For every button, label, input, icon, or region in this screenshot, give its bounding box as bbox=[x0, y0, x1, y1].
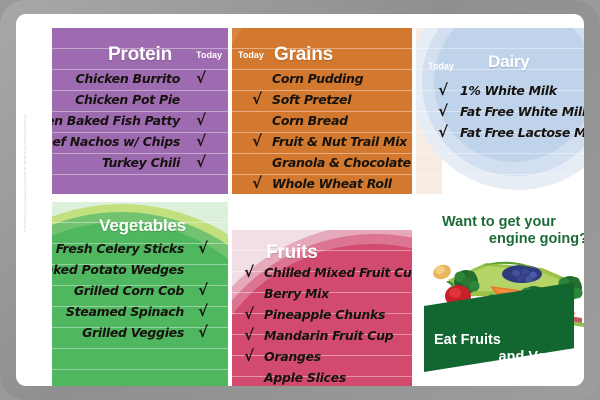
panel-vegetables: Vegetables Fresh Celery Sticks√Baked Pot… bbox=[52, 202, 228, 386]
menu-item-name: Grilled Corn Cob bbox=[74, 280, 184, 301]
menu-row[interactable]: Steamed Spinach√ bbox=[52, 301, 228, 322]
promo-banner-line-1: Eat Fruits bbox=[434, 332, 584, 349]
today-header-protein: Today bbox=[196, 50, 222, 60]
menu-item-name: Steamed Spinach bbox=[66, 301, 184, 322]
today-check-icon: √ bbox=[198, 280, 208, 301]
menu-item-name: Pineapple Chunks bbox=[264, 304, 385, 325]
menu-row[interactable]: Granola & Chocolate Bar bbox=[232, 152, 412, 173]
panel-title-dairy: Dairy bbox=[488, 52, 530, 72]
menu-item-name: Apple Slices bbox=[264, 367, 346, 386]
panel-title-grains: Grains bbox=[274, 44, 333, 66]
menu-item-name: 1% White Milk bbox=[460, 80, 557, 101]
menu-item-name: Oven Baked Fish Patty bbox=[52, 110, 180, 131]
menu-item-name: Fruit & Nut Trail Mix bbox=[272, 131, 407, 152]
menu-item-name: Turkey Chili bbox=[102, 152, 180, 173]
placemat: Protein Today Chicken Burrito√Chicken Po… bbox=[0, 0, 600, 400]
menu-row[interactable]: Fat Free White Milk√ bbox=[416, 101, 584, 122]
today-check-icon: √ bbox=[252, 89, 262, 110]
dairy-item-list: 1% White Milk√Fat Free White Milk√Fat Fr… bbox=[416, 80, 584, 143]
today-check-icon: √ bbox=[244, 304, 254, 325]
menu-row[interactable]: Fat Free Lactose Milk√ bbox=[416, 122, 584, 143]
promo-heading-line-1: Want to get your bbox=[428, 214, 584, 231]
grains-item-list: Corn PuddingSoft Pretzel√Corn BreadFruit… bbox=[232, 68, 412, 194]
protein-item-list: Chicken Burrito√Chicken Pot PieOven Bake… bbox=[52, 68, 228, 173]
today-check-icon: √ bbox=[244, 346, 254, 367]
menu-row[interactable]: Mandarin Fruit Cup√ bbox=[232, 325, 412, 346]
menu-item-name: Chilled Mixed Fruit Cup bbox=[264, 262, 412, 283]
menu-row[interactable]: Chicken Pot Pie bbox=[52, 89, 228, 110]
today-check-icon: √ bbox=[438, 122, 448, 143]
today-check-icon: √ bbox=[196, 68, 206, 89]
menu-row[interactable]: Corn Bread bbox=[232, 110, 412, 131]
menu-row[interactable]: Turkey Chili√ bbox=[52, 152, 228, 173]
today-check-icon: √ bbox=[438, 80, 448, 101]
menu-item-name: Fresh Celery Sticks bbox=[56, 238, 184, 259]
today-check-icon: √ bbox=[438, 101, 448, 122]
menu-item-name: Baked Potato Wedges bbox=[52, 259, 184, 280]
today-check-icon: √ bbox=[198, 238, 208, 259]
menu-item-name: Granola & Chocolate Bar bbox=[272, 152, 412, 173]
menu-item-name: Mandarin Fruit Cup bbox=[264, 325, 393, 346]
menu-item-name: Corn Pudding bbox=[272, 68, 363, 89]
today-check-icon: √ bbox=[196, 110, 206, 131]
panel-title-vegetables: Vegetables bbox=[99, 216, 186, 236]
today-header-dairy: Today bbox=[428, 61, 454, 71]
menu-item-name: Whole Wheat Roll bbox=[272, 173, 392, 194]
placemat-sheet: Protein Today Chicken Burrito√Chicken Po… bbox=[16, 14, 584, 386]
menu-row[interactable]: Whole Wheat Roll√ bbox=[232, 173, 412, 194]
menu-row[interactable]: Fresh Celery Sticks√ bbox=[52, 238, 228, 259]
microtext-credit: © 2014 Printed on post-consumer recycled… bbox=[24, 92, 27, 232]
today-check-icon: √ bbox=[244, 325, 254, 346]
menu-row[interactable]: Chilled Mixed Fruit Cup√ bbox=[232, 262, 412, 283]
panel-title-fruits: Fruits bbox=[266, 242, 318, 264]
menu-item-name: Fat Free Lactose Milk bbox=[460, 122, 584, 143]
fruits-item-list: Chilled Mixed Fruit Cup√Berry MixPineapp… bbox=[232, 262, 412, 386]
today-check-icon: √ bbox=[198, 322, 208, 343]
menu-row[interactable]: Fruit & Nut Trail Mix√ bbox=[232, 131, 412, 152]
menu-item-name: Chicken Pot Pie bbox=[75, 89, 180, 110]
menu-item-name: Corn Bread bbox=[272, 110, 348, 131]
today-check-icon: √ bbox=[252, 173, 262, 194]
panel-grains: Grains Today Corn PuddingSoft Pretzel√Co… bbox=[232, 28, 412, 194]
menu-row[interactable]: Oranges√ bbox=[232, 346, 412, 367]
promo-banner-line-2: and Veggies! bbox=[434, 349, 584, 366]
menu-row[interactable]: Soft Pretzel√ bbox=[232, 89, 412, 110]
today-check-icon: √ bbox=[198, 301, 208, 322]
menu-row[interactable]: Pineapple Chunks√ bbox=[232, 304, 412, 325]
today-check-icon: √ bbox=[252, 131, 262, 152]
menu-row[interactable]: Beef Nachos w/ Chips√ bbox=[52, 131, 228, 152]
panel-fruits: Fruits Chilled Mixed Fruit Cup√Berry Mix… bbox=[232, 230, 412, 386]
menu-row[interactable]: 1% White Milk√ bbox=[416, 80, 584, 101]
today-check-icon: √ bbox=[196, 152, 206, 173]
menu-row[interactable]: Baked Potato Wedges bbox=[52, 259, 228, 280]
menu-row[interactable]: Grilled Corn Cob√ bbox=[52, 280, 228, 301]
promo-banner-text: Eat Fruits and Veggies! bbox=[434, 332, 584, 366]
panel-promo: Want to get your engine going? bbox=[416, 202, 584, 386]
menu-item-name: Grilled Veggies bbox=[82, 322, 184, 343]
today-check-icon: √ bbox=[244, 262, 254, 283]
promo-heading-line-2: engine going? bbox=[428, 231, 584, 248]
menu-item-name: Beef Nachos w/ Chips bbox=[52, 131, 180, 152]
vegetables-item-list: Fresh Celery Sticks√Baked Potato WedgesG… bbox=[52, 238, 228, 343]
menu-row[interactable]: Chicken Burrito√ bbox=[52, 68, 228, 89]
menu-item-name: Soft Pretzel bbox=[272, 89, 351, 110]
promo-heading: Want to get your engine going? bbox=[428, 214, 584, 248]
panel-dairy: Dairy Today 1% White Milk√Fat Free White… bbox=[416, 28, 584, 194]
panel-protein: Protein Today Chicken Burrito√Chicken Po… bbox=[52, 28, 228, 194]
menu-row[interactable]: Corn Pudding bbox=[232, 68, 412, 89]
menu-item-name: Chicken Burrito bbox=[76, 68, 180, 89]
menu-row[interactable]: Berry Mix bbox=[232, 283, 412, 304]
menu-item-name: Berry Mix bbox=[264, 283, 329, 304]
menu-item-name: Fat Free White Milk bbox=[460, 101, 584, 122]
menu-row[interactable]: Oven Baked Fish Patty√ bbox=[52, 110, 228, 131]
menu-row[interactable]: Apple Slices bbox=[232, 367, 412, 386]
menu-item-name: Oranges bbox=[264, 346, 321, 367]
today-header-grains: Today bbox=[238, 50, 264, 60]
today-check-icon: √ bbox=[196, 131, 206, 152]
panel-title-protein: Protein bbox=[108, 44, 172, 66]
menu-row[interactable]: Grilled Veggies√ bbox=[52, 322, 228, 343]
